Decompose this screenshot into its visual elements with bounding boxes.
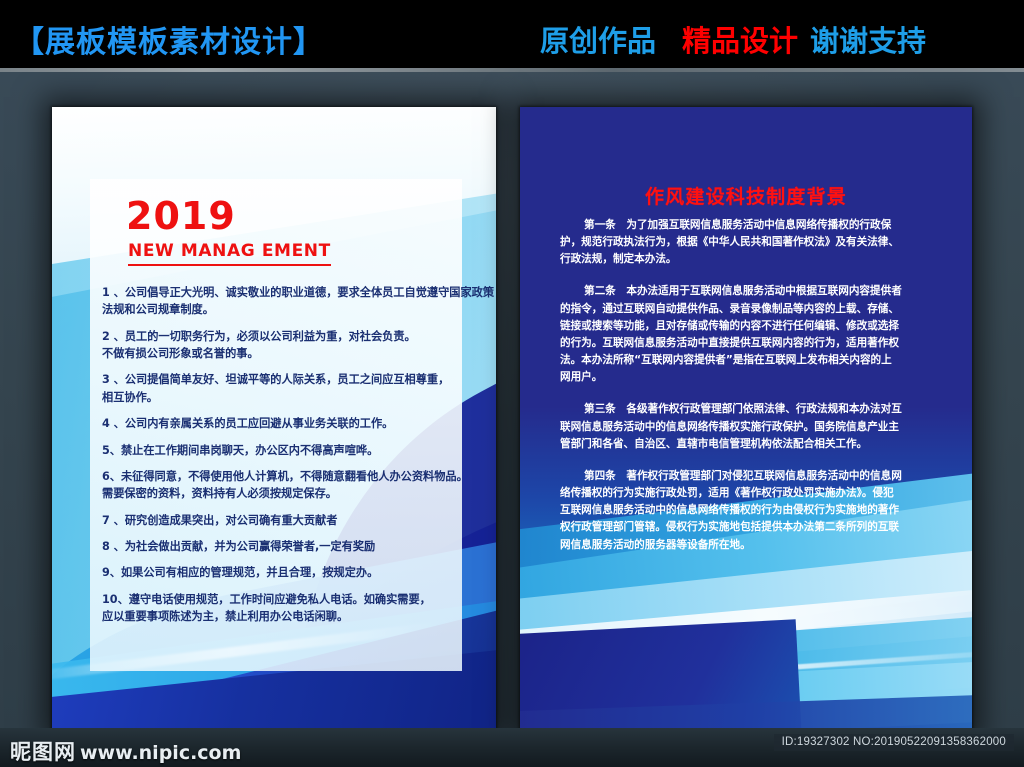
rule-line: 1 、公司倡导正大光明、诚实敬业的职业道德，要求全体员工自觉遵守国家政策 bbox=[102, 284, 454, 301]
top-banner: 【展板模板素材设计】 原创作品精品设计谢谢支持 bbox=[0, 0, 1024, 72]
slogan-original-work: 原创作品 bbox=[540, 24, 656, 58]
banner-slogan: 原创作品精品设计谢谢支持 bbox=[540, 18, 926, 60]
article-line: 网信息服务活动的服务器等设备所在地。 bbox=[560, 537, 938, 554]
article-line: 联网信息服务活动中的信息网络传播权实施行政保护。国务院信息产业主 bbox=[560, 419, 938, 436]
article-line: 法。本办法所称“互联网内容提供者”是指在互联网上发布相关内容的上 bbox=[560, 352, 938, 369]
article-line: 第二条 本办法适用于互联网信息服务活动中根据互联网内容提供者 bbox=[560, 283, 938, 300]
article-line: 网用户。 bbox=[560, 369, 938, 386]
right-poster-article-list: 第一条 为了加强互联网信息服务活动中信息网络传播权的行政保 护，规范行政执法行为… bbox=[560, 217, 938, 569]
left-poster-year: 2019 bbox=[126, 197, 236, 235]
rule-line: 3 、公司提倡简单友好、坦诚平等的人际关系，员工之间应互相尊重， bbox=[102, 371, 454, 388]
article-line: 的指令，通过互联网自动提供作品、录音录像制品等内容的上载、存储、 bbox=[560, 301, 938, 318]
article-line: 第一条 为了加强互联网信息服务活动中信息网络传播权的行政保 bbox=[560, 217, 938, 234]
asset-id-badge: ID:19327302 NO:20190522091358362000 bbox=[774, 734, 1014, 751]
list-item: 6、未征得同意，不得使用他人计算机，不得随意翻看他人办公资料物品。需要保密的资料… bbox=[102, 468, 454, 503]
rule-line: 7 、研究创造成果突出，对公司确有重大贡献者 bbox=[102, 512, 454, 529]
list-item: 3 、公司提倡简单友好、坦诚平等的人际关系，员工之间应互相尊重，相互协作。 bbox=[102, 371, 454, 406]
rule-line: 8 、为社会做出贡献，并为公司赢得荣誉者,一定有奖励 bbox=[102, 538, 454, 555]
slogan-premium-design: 精品设计 bbox=[682, 24, 798, 58]
list-item: 第四条 著作权行政管理部门对侵犯互联网信息服务活动中的信息网 络传播权的行为实施… bbox=[560, 468, 938, 554]
article-line: 权行政管理部门管辖。侵权行为实施地包括提供本办法第二条所列的互联 bbox=[560, 519, 938, 536]
article-line: 管部门和各省、自治区、直辖市电信管理机构依法配合相关工作。 bbox=[560, 436, 938, 453]
site-watermark[interactable]: 昵图网www.nipic.com bbox=[10, 736, 241, 766]
site-logo-url: www.nipic.com bbox=[80, 742, 241, 764]
list-item: 第二条 本办法适用于互联网信息服务活动中根据互联网内容提供者 的指令，通过互联网… bbox=[560, 283, 938, 386]
list-item: 1 、公司倡导正大光明、诚实敬业的职业道德，要求全体员工自觉遵守国家政策法规和公… bbox=[102, 284, 454, 319]
rule-line: 相互协作。 bbox=[102, 389, 454, 406]
rule-line: 法规和公司规章制度。 bbox=[102, 301, 454, 318]
article-line: 链接或搜索等功能，且对存储或传输的内容不进行任何编辑、修改或选择 bbox=[560, 318, 938, 335]
list-item: 10、遵守电话使用规范，工作时间应避免私人电话。如确实需要，应以重要事项陈述为主… bbox=[102, 591, 454, 626]
list-item: 9、如果公司有相应的管理规范，并且合理，按规定办。 bbox=[102, 564, 454, 581]
right-poster[interactable]: 作风建设科技制度背景 第一条 为了加强互联网信息服务活动中信息网络传播权的行政保… bbox=[520, 107, 972, 733]
left-poster-subtitle: NEW MANAG EMENT bbox=[128, 241, 331, 266]
article-line: 第四条 著作权行政管理部门对侵犯互联网信息服务活动中的信息网 bbox=[560, 468, 938, 485]
rule-line: 10、遵守电话使用规范，工作时间应避免私人电话。如确实需要， bbox=[102, 591, 454, 608]
slogan-thanks-support: 谢谢支持 bbox=[810, 24, 926, 58]
list-item: 8 、为社会做出贡献，并为公司赢得荣誉者,一定有奖励 bbox=[102, 538, 454, 555]
right-poster-title: 作风建设科技制度背景 bbox=[520, 182, 972, 209]
rule-line: 6、未征得同意，不得使用他人计算机，不得随意翻看他人办公资料物品。 bbox=[102, 468, 454, 485]
list-item: 5、禁止在工作期间串岗聊天，办公区内不得高声喧哗。 bbox=[102, 442, 454, 459]
list-item: 7 、研究创造成果突出，对公司确有重大贡献者 bbox=[102, 512, 454, 529]
rule-line: 9、如果公司有相应的管理规范，并且合理，按规定办。 bbox=[102, 564, 454, 581]
rule-line: 应以重要事项陈述为主，禁止利用办公电话闲聊。 bbox=[102, 608, 454, 625]
banner-bracket-title: 【展板模板素材设计】 bbox=[14, 17, 324, 61]
list-item: 第三条 各级著作权行政管理部门依照法律、行政法规和本办法对互 联网信息服务活动中… bbox=[560, 401, 938, 452]
rule-line: 4 、公司内有亲属关系的员工应回避从事业务关联的工作。 bbox=[102, 415, 454, 432]
rule-line: 需要保密的资料，资料持有人必须按规定保存。 bbox=[102, 485, 454, 502]
site-logo-cn: 昵图网 bbox=[10, 740, 76, 764]
list-item: 4 、公司内有亲属关系的员工应回避从事业务关联的工作。 bbox=[102, 415, 454, 432]
left-poster-text-block: 2019 NEW MANAG EMENT 1 、公司倡导正大光明、诚实敬业的职业… bbox=[90, 179, 462, 679]
list-item: 2 、员工的一切职务行为，必须以公司利益为重，对社会负责。不做有损公司形象或名誉… bbox=[102, 328, 454, 363]
rule-line: 5、禁止在工作期间串岗聊天，办公区内不得高声喧哗。 bbox=[102, 442, 454, 459]
article-line: 行政法规，制定本办法。 bbox=[560, 251, 938, 268]
article-line: 的行为。互联网信息服务活动中直接提供互联网内容的行为，适用著作权 bbox=[560, 335, 938, 352]
rule-line: 不做有损公司形象或名誉的事。 bbox=[102, 345, 454, 362]
left-poster-rule-list: 1 、公司倡导正大光明、诚实敬业的职业道德，要求全体员工自觉遵守国家政策法规和公… bbox=[102, 284, 454, 634]
article-line: 络传播权的行为实施行政处罚，适用《著作权行政处罚实施办法》。侵犯 bbox=[560, 485, 938, 502]
left-poster[interactable]: 2019 NEW MANAG EMENT 1 、公司倡导正大光明、诚实敬业的职业… bbox=[52, 107, 496, 733]
article-line: 护，规范行政执法行为，根据《中华人民共和国著作权法》及有关法律、 bbox=[560, 234, 938, 251]
article-line: 第三条 各级著作权行政管理部门依照法律、行政法规和本办法对互 bbox=[560, 401, 938, 418]
article-line: 互联网信息服务活动中的信息网络传播权的行为由侵权行为实施地的著作 bbox=[560, 502, 938, 519]
rule-line: 2 、员工的一切职务行为，必须以公司利益为重，对社会负责。 bbox=[102, 328, 454, 345]
list-item: 第一条 为了加强互联网信息服务活动中信息网络传播权的行政保 护，规范行政执法行为… bbox=[560, 217, 938, 268]
screenshot-stage: 【展板模板素材设计】 原创作品精品设计谢谢支持 2019 NEW MANAG E… bbox=[0, 0, 1024, 767]
